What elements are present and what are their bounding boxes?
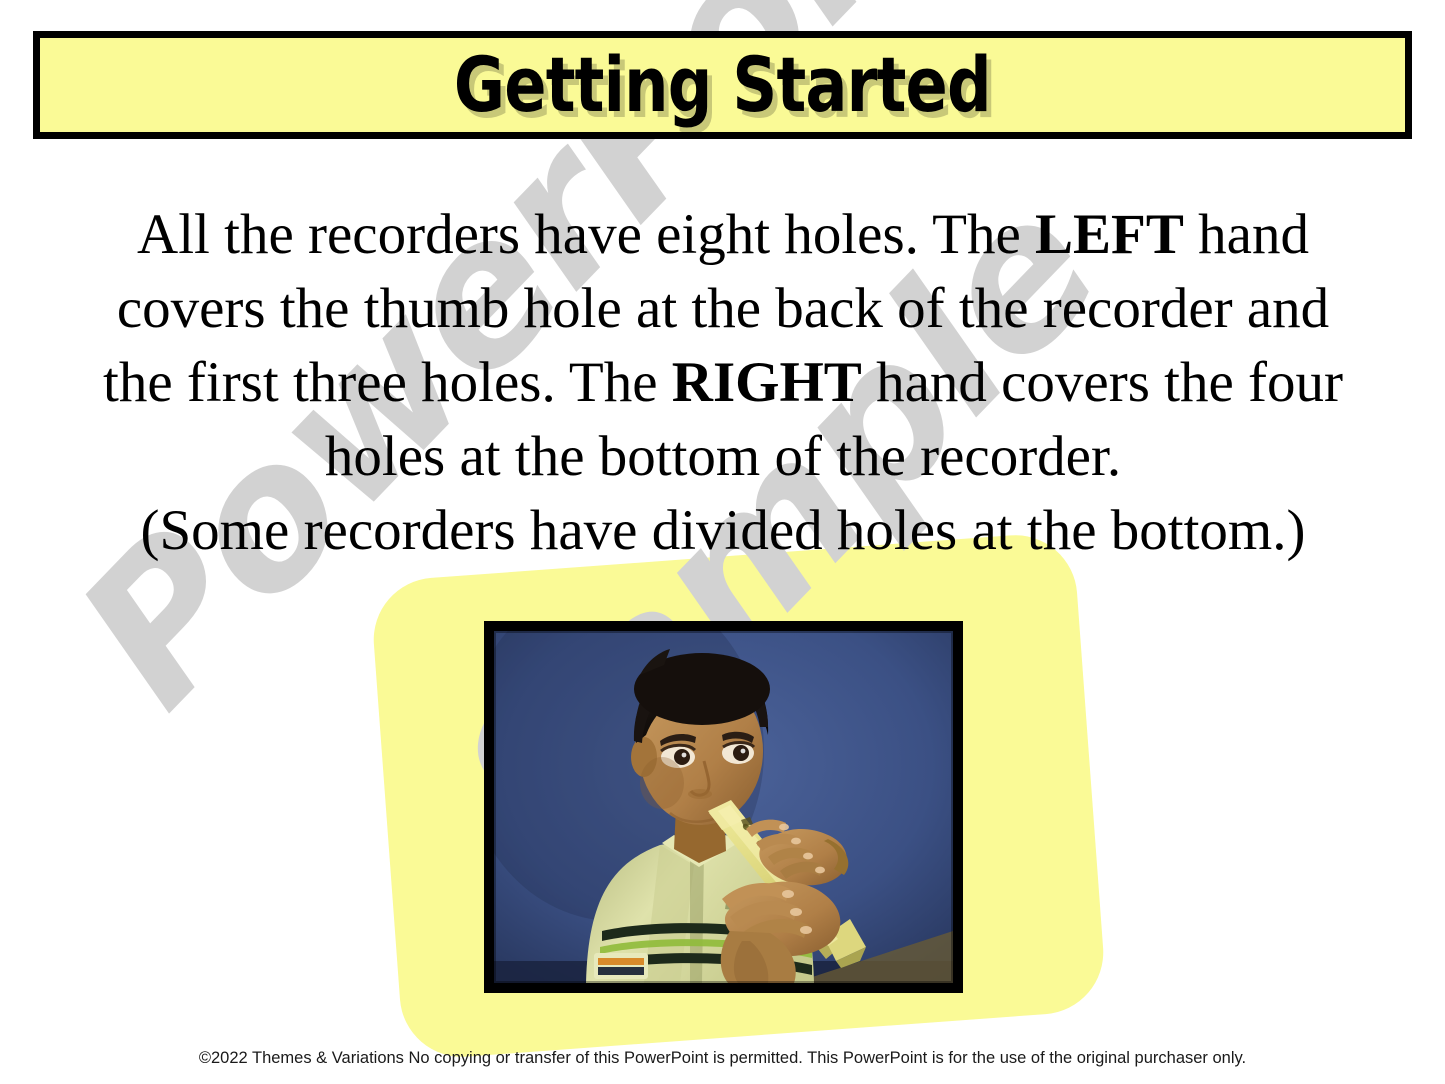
body-emphasis-left: LEFT	[1035, 203, 1184, 266]
body-line-1-part-a: All the recorders have eight holes. The	[137, 203, 1035, 266]
body-line-1: All the recorders have eight holes. The …	[48, 198, 1398, 272]
photo-boy-playing-recorder	[494, 631, 953, 983]
body-line-3-part-a: the first three holes. The	[103, 351, 672, 414]
body-line-5: (Some recorders have divided holes at th…	[48, 494, 1398, 568]
body-line-4: holes at the bottom of the recorder.	[48, 420, 1398, 494]
photo-frame	[484, 621, 963, 993]
body-line-3-part-b: hand covers the four	[862, 351, 1343, 414]
slide-canvas: Getting Started All the recorders have e…	[0, 0, 1445, 1084]
title-banner: Getting Started	[33, 31, 1412, 139]
photo-illustration	[494, 631, 953, 983]
page-title: Getting Started	[454, 47, 991, 123]
body-emphasis-right: RIGHT	[672, 351, 862, 414]
copyright-footer: ©2022 Themes & Variations No copying or …	[0, 1049, 1445, 1068]
body-line-1-part-b: hand	[1184, 203, 1309, 266]
body-paragraph: All the recorders have eight holes. The …	[48, 198, 1398, 568]
body-line-3: the first three holes. The RIGHT hand co…	[48, 346, 1398, 420]
body-line-2: covers the thumb hole at the back of the…	[48, 272, 1398, 346]
